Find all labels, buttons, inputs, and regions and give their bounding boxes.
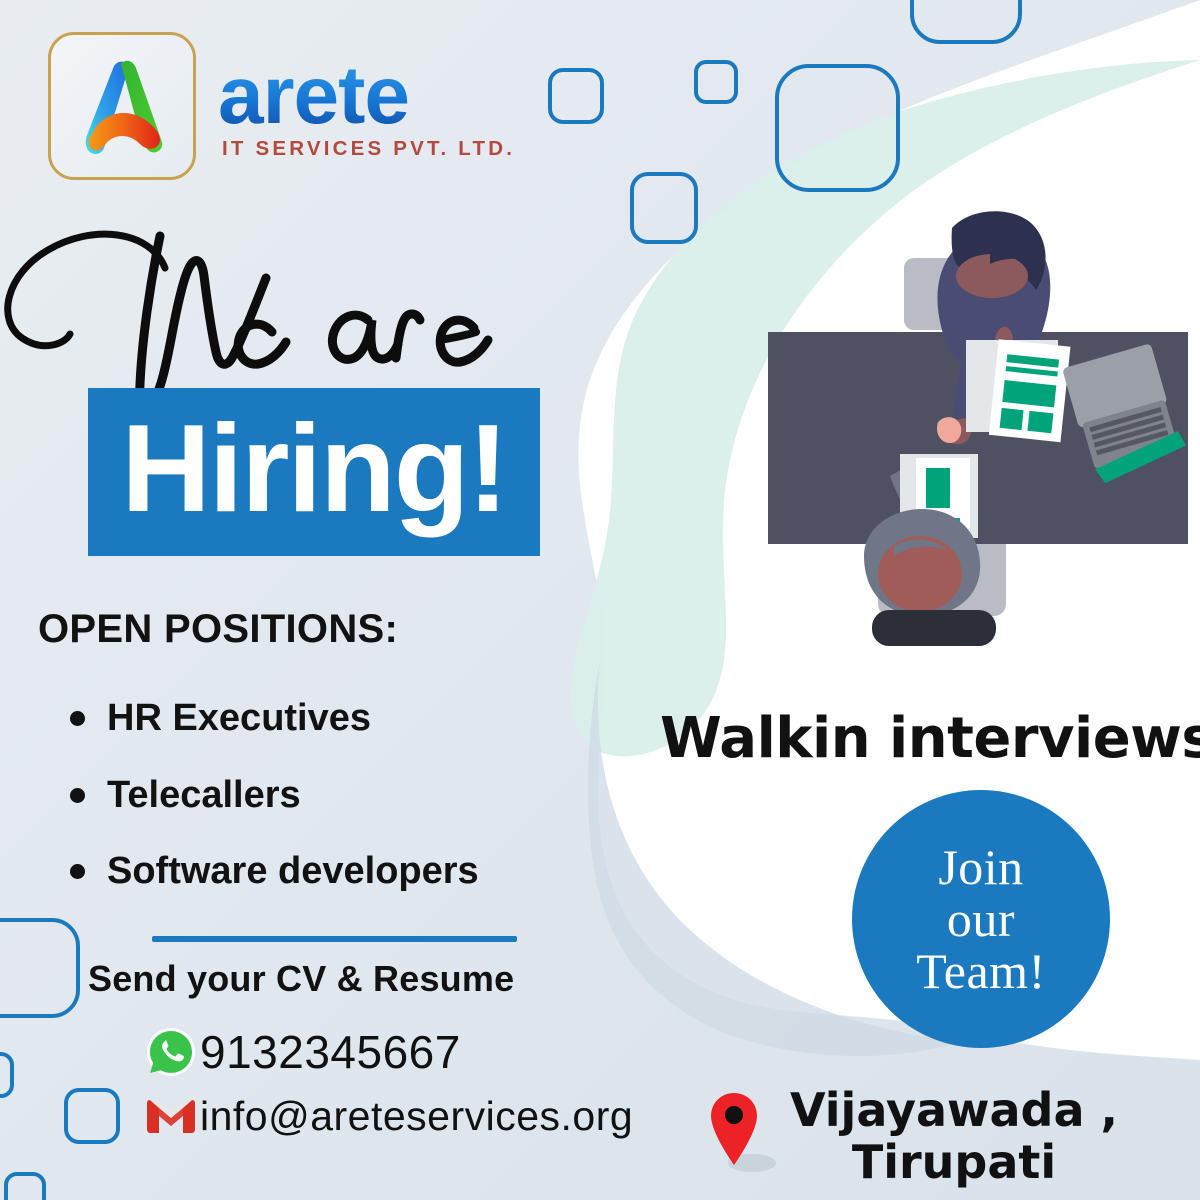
location-label: Vijayawada , Tirupati: [790, 1085, 1118, 1188]
chair-seat-bottom: [872, 610, 996, 646]
we-are-script-svg: We are: [0, 216, 560, 416]
logo-badge: [48, 32, 196, 180]
decor-rounded-square: [0, 1052, 14, 1098]
contact-row-email[interactable]: info@areteservices.org: [142, 1093, 742, 1140]
person-bottom-head: [878, 536, 962, 612]
position-label: HR Executives: [107, 694, 371, 743]
brand-logo: arete IT SERVICES PVT. LTD.: [48, 32, 515, 180]
position-label: Software developers: [107, 847, 479, 896]
resume-document: [989, 339, 1071, 442]
open-positions-list: HR Executives Telecallers Software devel…: [70, 694, 610, 924]
location-line-1: Vijayawada ,: [790, 1085, 1118, 1137]
map-pin-icon: [710, 1091, 776, 1182]
list-item: Software developers: [70, 847, 610, 896]
position-label: Telecallers: [107, 771, 301, 820]
decor-rounded-square: [64, 1088, 120, 1144]
contact-block: 9132345667 info@areteservices.org: [142, 1025, 742, 1154]
list-item: HR Executives: [70, 694, 610, 743]
arete-a-logo-icon: [66, 50, 178, 162]
send-cv-label: Send your CV & Resume: [88, 958, 514, 1000]
join-our-team-badge[interactable]: Join our Team!: [852, 790, 1110, 1048]
logo-text-block: arete IT SERVICES PVT. LTD.: [218, 57, 515, 161]
decor-rounded-square: [775, 64, 900, 192]
decor-rounded-square: [548, 68, 604, 124]
decor-rounded-square: [630, 172, 698, 244]
logo-wordmark: arete: [218, 57, 409, 135]
join-line-2: our: [916, 893, 1045, 945]
handshake-illustration: [752, 198, 1200, 670]
bullet-icon: [70, 711, 85, 726]
walkin-interviews-label: Walkin interviews: [660, 706, 1180, 771]
decor-rounded-square: [0, 918, 80, 1018]
we-are-text: We are: [0, 413, 4, 415]
whatsapp-icon: [142, 1027, 200, 1077]
script-headline: We are: [0, 216, 560, 416]
decor-rounded-square: [910, 0, 1022, 44]
decor-rounded-square: [694, 60, 738, 104]
bullet-icon: [70, 864, 85, 879]
hiring-banner: Hiring!: [88, 388, 540, 556]
location-line-2: Tirupati: [790, 1137, 1118, 1189]
join-our-team-text: Join our Team!: [916, 841, 1045, 997]
join-line-1: Join: [916, 841, 1045, 893]
join-line-3: Team!: [916, 945, 1045, 997]
phone-number: 9132345667: [200, 1025, 461, 1079]
location-block: Vijayawada , Tirupati: [710, 1085, 1118, 1188]
hiring-poster: arete IT SERVICES PVT. LTD. We are Hirin…: [0, 0, 1200, 1200]
bullet-icon: [70, 788, 85, 803]
hiring-label: Hiring!: [88, 388, 540, 556]
list-item: Telecallers: [70, 771, 610, 820]
contact-row-phone[interactable]: 9132345667: [142, 1025, 742, 1079]
divider: [152, 936, 517, 942]
email-address: info@areteservices.org: [200, 1093, 633, 1140]
gmail-icon: [142, 1097, 200, 1137]
open-positions-title: OPEN POSITIONS:: [38, 607, 398, 652]
decor-rounded-square: [4, 1172, 46, 1200]
